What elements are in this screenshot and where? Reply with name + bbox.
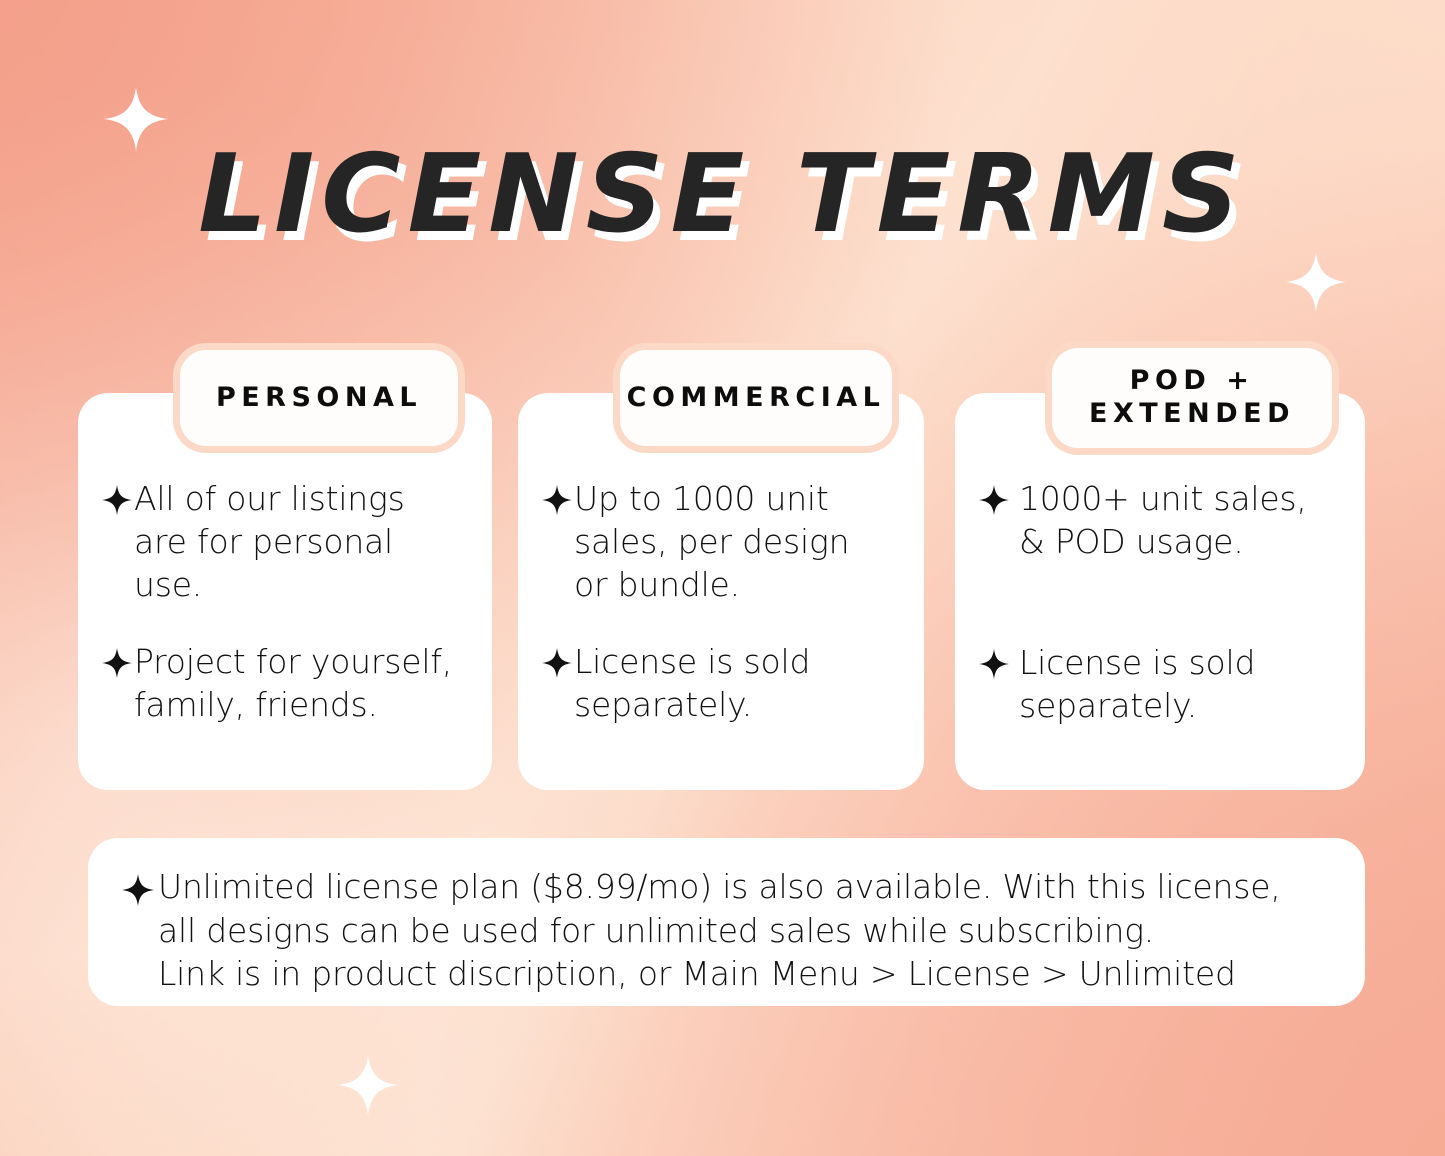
sparkle-star-icon <box>338 1055 398 1115</box>
four-point-star-icon <box>100 643 134 683</box>
sparkle-star-icon <box>1286 252 1346 312</box>
list-item-text: Unlimited license plan ($8.99/mo) is als… <box>158 865 1281 996</box>
four-point-star-icon <box>977 644 1011 684</box>
list-item: License is sold separately. <box>540 641 896 727</box>
page-title: LICENSE TERMS <box>0 141 1445 249</box>
list-item: License is sold separately. <box>977 642 1337 728</box>
list-item: Unlimited license plan ($8.99/mo) is als… <box>118 865 1341 996</box>
four-point-star-icon <box>540 643 574 683</box>
card-heading-pod-extended: POD + EXTENDED <box>1052 348 1332 448</box>
four-point-star-icon <box>100 480 134 520</box>
list-item: Project for yourself, family, friends. <box>100 641 464 727</box>
card-bullet-list: 1000+ unit sales, & POD usage. License i… <box>955 478 1365 728</box>
list-item: All of our listings are for personal use… <box>100 478 464 607</box>
license-card-commercial: Up to 1000 unit sales, per design or bun… <box>518 393 924 790</box>
license-card-personal: All of our listings are for personal use… <box>78 393 492 790</box>
card-heading-commercial: COMMERCIAL <box>620 350 892 446</box>
license-card-pod-extended: 1000+ unit sales, & POD usage. License i… <box>955 393 1365 790</box>
list-item-text: All of our listings are for personal use… <box>134 478 405 607</box>
unlimited-license-banner: Unlimited license plan ($8.99/mo) is als… <box>88 838 1365 1006</box>
list-item-text: Up to 1000 unit sales, per design or bun… <box>574 478 849 607</box>
card-bullet-list: All of our listings are for personal use… <box>78 478 492 726</box>
list-item-text: License is sold separately. <box>1019 642 1255 728</box>
card-bullet-list: Up to 1000 unit sales, per design or bun… <box>518 478 924 726</box>
four-point-star-icon <box>977 480 1011 520</box>
list-item-text: Project for yourself, family, friends. <box>134 641 452 727</box>
list-item: 1000+ unit sales, & POD usage. <box>977 478 1337 564</box>
list-item: Up to 1000 unit sales, per design or bun… <box>540 478 896 607</box>
list-item-text: 1000+ unit sales, & POD usage. <box>1019 478 1307 564</box>
license-terms-graphic: LICENSE TERMS All of our listings are fo… <box>0 0 1445 1156</box>
four-point-star-icon <box>540 480 574 520</box>
list-item-text: License is sold separately. <box>574 641 810 727</box>
four-point-star-icon <box>118 868 158 912</box>
card-heading-personal: PERSONAL <box>180 350 458 446</box>
